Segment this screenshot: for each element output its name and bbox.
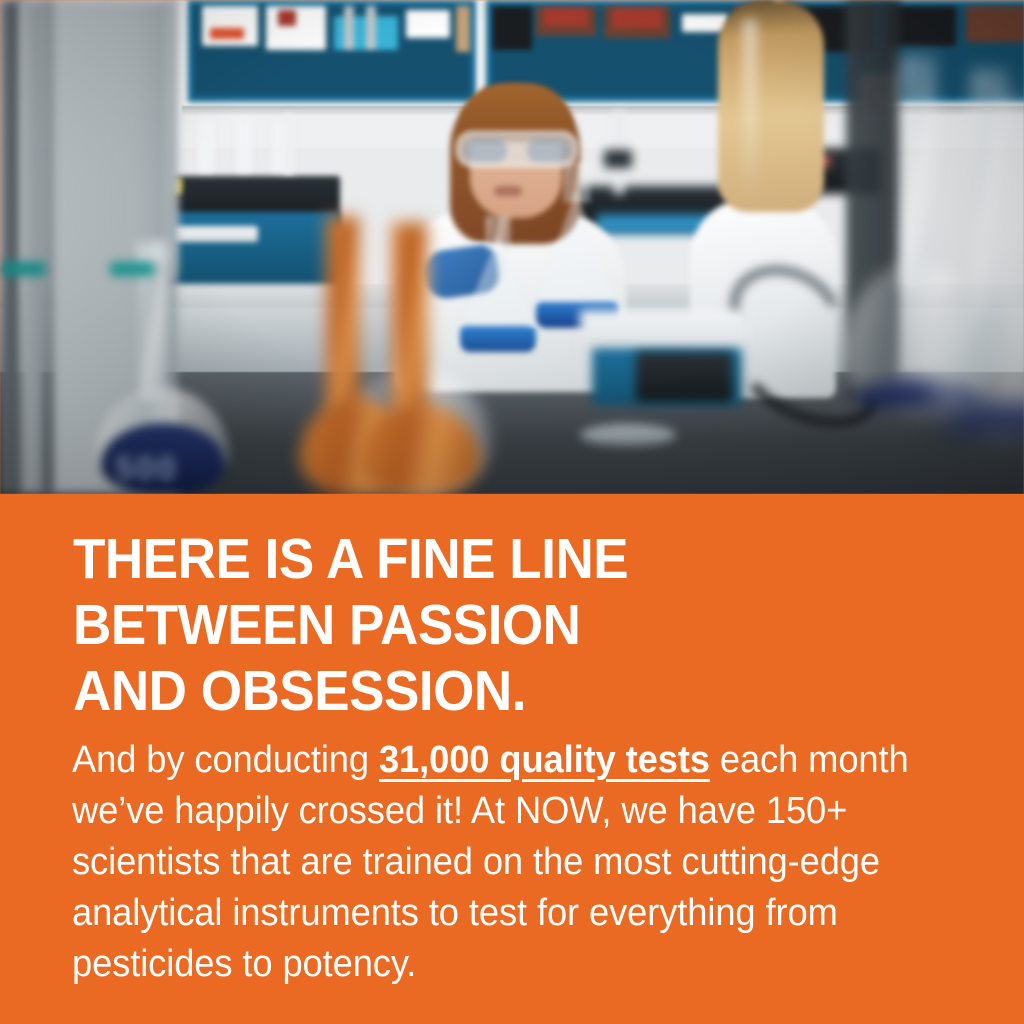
test-tube-2 xyxy=(236,118,252,172)
social-media-card: 500 THERE IS A FINE LINE BETWEEN PASSION… xyxy=(0,0,1024,1024)
test-tube-1 xyxy=(198,118,214,172)
erlenmeyer-neck-front xyxy=(486,216,510,250)
rod-clamp xyxy=(604,150,632,168)
balance-display-panel xyxy=(636,352,732,402)
body-paragraph: And by conducting 31,000 quality tests e… xyxy=(72,735,912,990)
support-post-seam xyxy=(46,0,52,494)
scientist-right-hair-highlight xyxy=(742,18,758,198)
flask-volume-label: 500 xyxy=(115,450,178,489)
support-post-dark xyxy=(0,0,22,494)
erlenmeyer-neck-back xyxy=(564,162,590,202)
clear-flask-neck-right-1 xyxy=(900,56,934,286)
wall-cabinet-left xyxy=(182,0,482,108)
body-segment-1: And by conducting xyxy=(72,739,379,781)
scientist-center-mouth xyxy=(494,186,522,196)
clear-flask-neck-right-3 xyxy=(1000,100,1024,300)
lab-photo: 500 xyxy=(0,0,1024,494)
teal-tape-left xyxy=(0,262,46,276)
pipette-stand-2 xyxy=(284,114,294,174)
instrument-display xyxy=(172,226,258,242)
teal-tape-right xyxy=(110,262,154,276)
watch-glass xyxy=(580,424,676,446)
scientist-right-hair xyxy=(718,0,824,212)
erlenmeyer-blue-liquid xyxy=(460,326,536,352)
safety-goggles-icon xyxy=(456,131,578,167)
amber-flask-neck-2 xyxy=(392,222,428,420)
support-post-light xyxy=(20,0,46,494)
lab-instrument-blue xyxy=(160,212,340,284)
volumetric-flask-500-stopper xyxy=(136,240,170,262)
page-title: THERE IS A FINE LINE BETWEEN PASSION AND… xyxy=(73,526,910,724)
quality-tests-highlight: 31,000 quality tests xyxy=(379,739,710,781)
amber-flask-neck-1 xyxy=(326,216,360,416)
